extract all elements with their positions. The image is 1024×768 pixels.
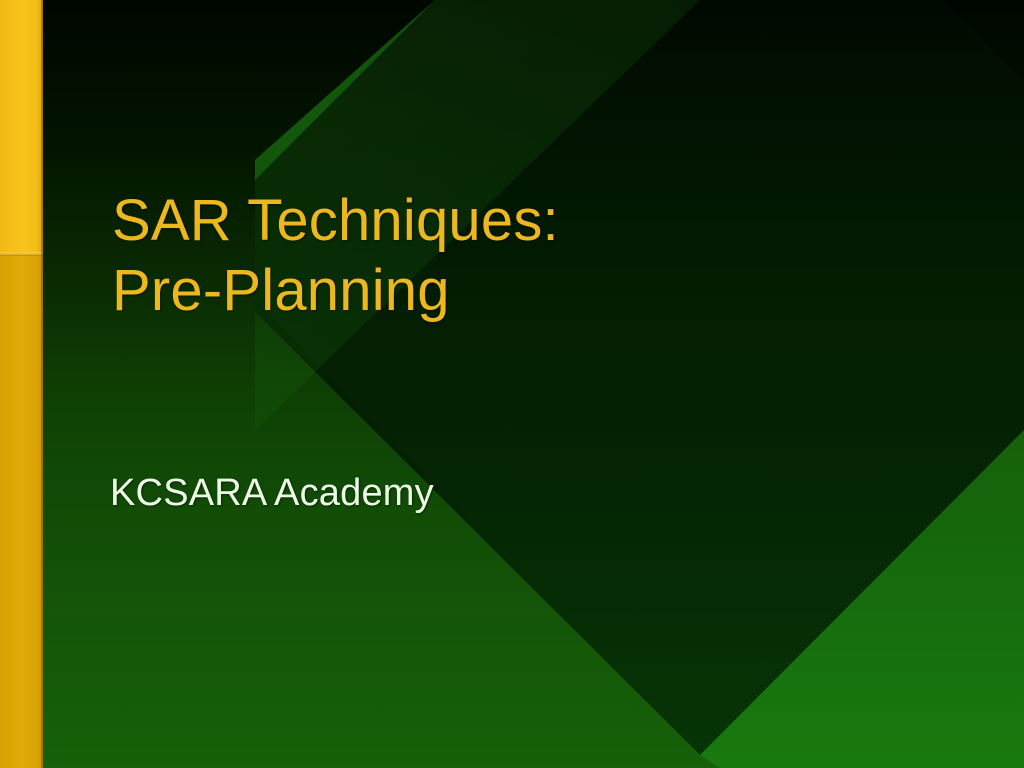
gold-stripe-seam [0,252,43,256]
gold-stripe-upper-segment [0,0,43,255]
slide-subtitle-text: KCSARA Academy [110,470,870,516]
presentation-slide: SAR Techniques: Pre-Planning KCSARA Acad… [0,0,1024,768]
slide-title-line-1: SAR Techniques: [112,186,912,256]
slide-title: SAR Techniques: Pre-Planning [112,186,912,326]
left-gold-stripe [0,0,43,768]
slide-subtitle: KCSARA Academy [110,470,870,516]
slide-title-line-2: Pre-Planning [112,256,912,326]
gold-stripe-lower-segment [0,255,43,768]
gold-stripe-edge-shadow [41,0,43,768]
